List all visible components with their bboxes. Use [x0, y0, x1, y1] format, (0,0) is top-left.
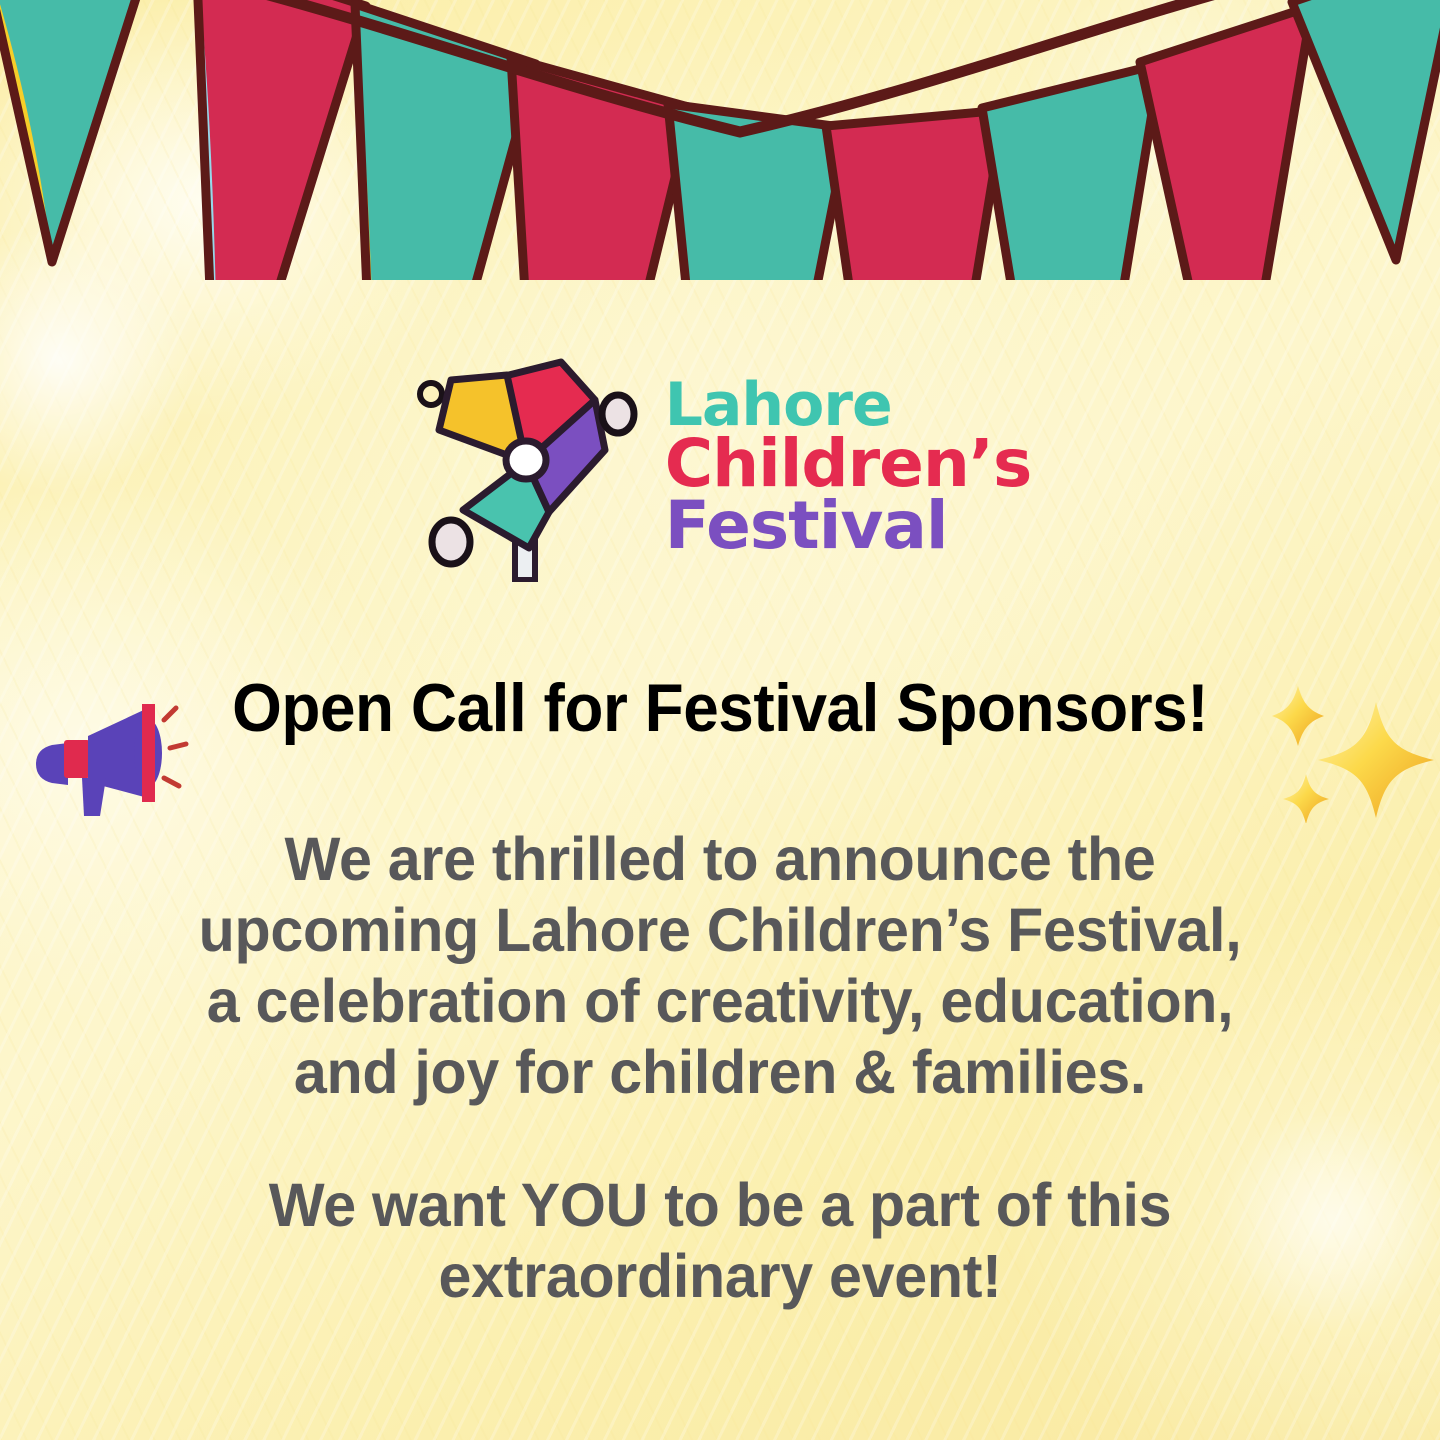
logo-dot-filled-bottom [432, 520, 470, 564]
headline-text: Open Call for Festival Sponsors! [232, 669, 1208, 747]
logo-word-festival: Festival [665, 495, 1032, 557]
pinwheel-icon [409, 352, 659, 582]
festival-logo: Lahore Children’s Festival [0, 352, 1440, 582]
body-line: upcoming Lahore Children’s Festival, [109, 895, 1331, 966]
poster-canvas: Lahore Children’s Festival Open Call for… [0, 0, 1440, 1440]
logo-word-children: Children’s [665, 433, 1032, 495]
body-line: We want YOU to be a part of this [109, 1170, 1331, 1241]
bunting-flag [150, 0, 366, 280]
pinwheel-hub [506, 441, 546, 479]
body-paragraph-2: We want YOU to be a part of this extraor… [90, 1170, 1350, 1312]
bunting-flag [960, 64, 1160, 280]
logo-dot-filled-right [602, 395, 634, 433]
body-line: extraordinary event! [109, 1241, 1331, 1312]
bunting-flag [810, 110, 1004, 280]
logo-dot-open [420, 383, 442, 405]
body-line: We are thrilled to announce the [109, 824, 1331, 895]
bunting-banner [0, 0, 1440, 280]
body-paragraph-1: We are thrilled to announce the upcoming… [90, 824, 1350, 1108]
logo-wordmark: Lahore Children’s Festival [665, 377, 1032, 557]
bunting-flag [0, 0, 150, 262]
headline-row: Open Call for Festival Sponsors! [0, 662, 1440, 754]
body-line: and joy for children & families. [109, 1037, 1331, 1108]
bunting-flag [1280, 0, 1440, 260]
body-line: a celebration of creativity, education, [109, 966, 1331, 1037]
sparkles-icon [1272, 678, 1440, 823]
body-copy: We are thrilled to announce the upcoming… [90, 824, 1350, 1312]
paragraph-spacer [90, 1108, 1350, 1170]
